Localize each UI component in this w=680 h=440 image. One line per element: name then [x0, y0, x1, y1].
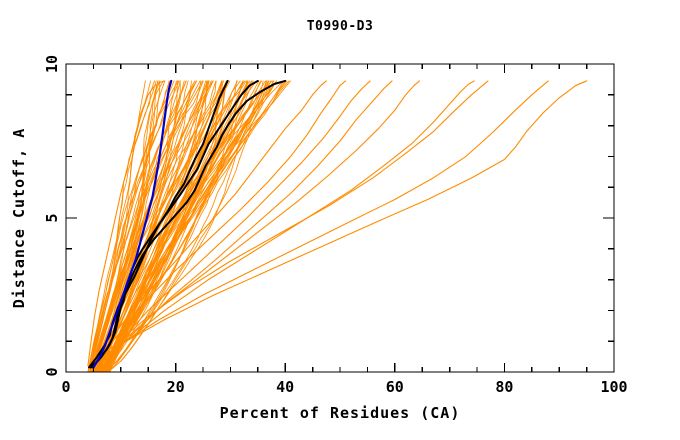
page-title: T0990-D3 — [307, 19, 374, 34]
y-tick-label-0: 0 — [43, 367, 61, 376]
y-tick-label-5: 5 — [43, 213, 61, 222]
x-tick-label-100: 100 — [600, 378, 627, 396]
figure-container: T0990-D3 0204060801000510 Percent of Res… — [0, 0, 680, 440]
x-tick-label-80: 80 — [495, 378, 513, 396]
x-tick-label-0: 0 — [61, 378, 70, 396]
outlier-curves — [88, 81, 587, 366]
ensemble-curves — [88, 81, 291, 372]
y-tick-label-10: 10 — [43, 55, 61, 73]
x-axis-title: Percent of Residues (CA) — [220, 404, 461, 422]
plot-canvas: T0990-D3 0204060801000510 Percent of Res… — [0, 0, 680, 440]
x-tick-label-60: 60 — [386, 378, 404, 396]
x-tick-label-40: 40 — [276, 378, 294, 396]
x-tick-label-20: 20 — [167, 378, 185, 396]
y-axis-title: Distance Cutoff, A — [10, 128, 28, 309]
